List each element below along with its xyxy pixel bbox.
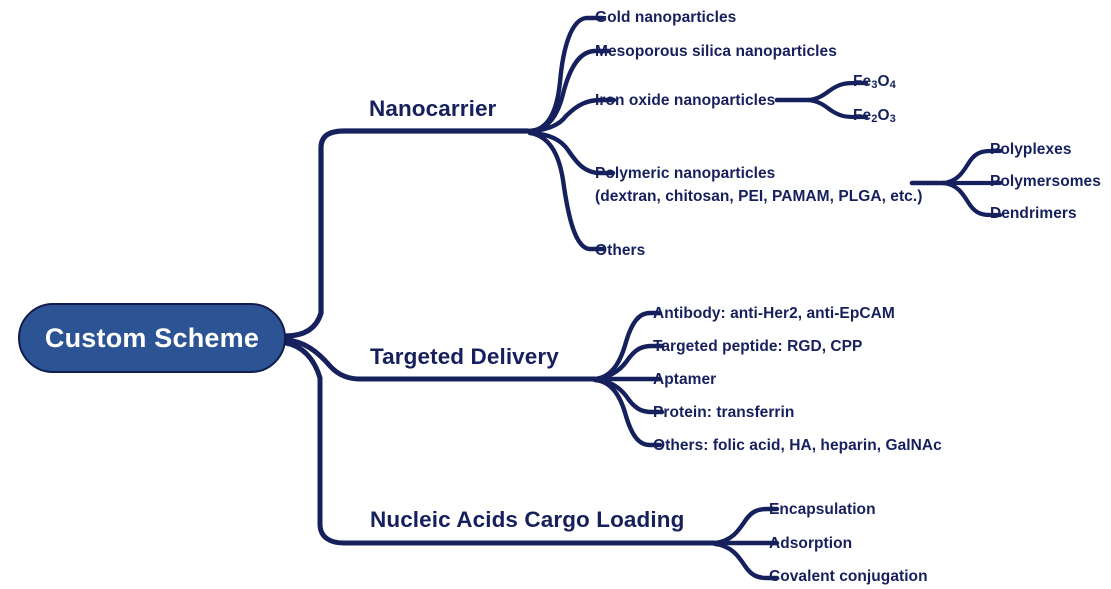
leaf-wire-targeted-peptide xyxy=(595,346,662,379)
leaf-wire-antibody xyxy=(595,313,660,379)
branch-label-targeted-delivery[interactable]: Targeted Delivery xyxy=(370,344,559,370)
leaf-wire-others-nanocarrier xyxy=(530,133,604,249)
sub-leaf-polyplexes[interactable]: Polyplexes xyxy=(990,141,1072,159)
leaf-iron-oxide-nanoparticles[interactable]: Iron oxide nanoparticles xyxy=(595,90,775,113)
leaf-mesoporous-silica-nanoparticles[interactable]: Mesoporous silica nanoparticles xyxy=(595,41,837,64)
leaf-protein-transferrin[interactable]: Protein: transferrin xyxy=(653,402,794,425)
leaf-wire-others-targeting xyxy=(595,380,660,445)
leaf-targeted-peptide[interactable]: Targeted peptide: RGD, CPP xyxy=(653,336,862,359)
leaf-wire-encapsulation xyxy=(715,509,777,543)
leaf-wire-gold-nanoparticles xyxy=(530,18,602,131)
root-node[interactable]: Custom Scheme xyxy=(18,303,286,373)
leaf-others-nanocarrier[interactable]: Others xyxy=(595,240,645,263)
branch-label-cargo-loading[interactable]: Nucleic Acids Cargo Loading xyxy=(370,507,684,533)
connector-layer xyxy=(0,0,1111,589)
leaf-polymeric-nanoparticles-line2: (dextran, chitosan, PEI, PAMAM, PLGA, et… xyxy=(595,186,922,209)
leaf-others-targeting[interactable]: Others: folic acid, HA, heparin, GalNAc xyxy=(653,435,942,458)
leaf-polymeric-nanoparticles[interactable]: Polymeric nanoparticles (dextran, chitos… xyxy=(595,163,922,209)
leaf-adsorption[interactable]: Adsorption xyxy=(769,533,852,556)
root-node-label: Custom Scheme xyxy=(45,323,259,354)
sub-leaf-fe2o3[interactable]: Fe2O3 xyxy=(853,107,896,125)
mind-map-canvas: Custom Scheme Nanocarrier Targeted Deliv… xyxy=(0,0,1111,589)
leaf-wire-protein-transferrin xyxy=(595,380,662,412)
leaf-aptamer[interactable]: Aptamer xyxy=(653,369,716,392)
sub-leaf-polymersomes[interactable]: Polymersomes xyxy=(990,173,1101,191)
trunk-nanocarrier xyxy=(286,131,528,336)
leaf-gold-nanoparticles[interactable]: Gold nanoparticles xyxy=(595,7,736,30)
sub-leaf-fe3o4[interactable]: Fe3O4 xyxy=(853,73,896,91)
leaf-wire-covalent-conjugation xyxy=(715,544,777,578)
branch-label-nanocarrier[interactable]: Nanocarrier xyxy=(369,96,496,122)
leaf-polymeric-nanoparticles-line1: Polymeric nanoparticles xyxy=(595,163,922,186)
sub-leaf-dendrimers[interactable]: Dendrimers xyxy=(990,205,1077,223)
leaf-encapsulation[interactable]: Encapsulation xyxy=(769,499,876,522)
leaf-covalent-conjugation[interactable]: Covalent conjugation xyxy=(769,566,928,589)
leaf-antibody[interactable]: Antibody: anti-Her2, anti-EpCAM xyxy=(653,303,895,326)
